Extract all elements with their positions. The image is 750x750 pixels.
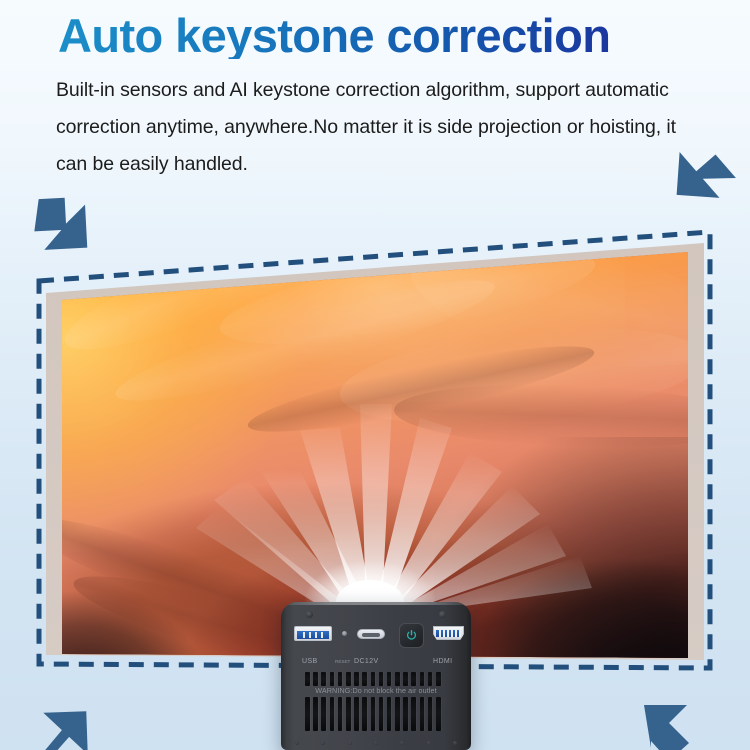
foot-dot <box>374 741 378 745</box>
hdmi-pin <box>451 630 453 637</box>
dc-power-label: DC12V <box>354 658 379 665</box>
foot-dot-row <box>295 741 457 745</box>
foot-dot <box>348 741 352 745</box>
usb-port[interactable] <box>294 626 332 641</box>
hdmi-pin <box>459 630 461 637</box>
hdmi-pin <box>443 630 445 637</box>
usb-pin <box>303 632 305 638</box>
usb-pin <box>315 632 317 638</box>
foot-dot <box>427 741 431 745</box>
usb-pin <box>309 632 311 638</box>
promo-banner: Auto keystone correction Built-in sensor… <box>0 0 750 750</box>
screw-icon <box>439 611 446 618</box>
foot-dot <box>321 741 325 745</box>
usb-port-label: USB <box>302 658 318 665</box>
hdmi-pin <box>447 630 449 637</box>
hdmi-pin <box>439 630 441 637</box>
hdmi-port-label: HDMI <box>433 658 453 665</box>
hdmi-pin <box>455 630 457 637</box>
reset-label: RESET <box>335 659 350 664</box>
air-outlet-warning: WARNING:Do not block the air outlet <box>281 686 471 695</box>
usb-pin <box>321 632 323 638</box>
foot-dot <box>295 741 299 745</box>
reset-pinhole[interactable] <box>342 631 347 636</box>
foot-dot <box>400 741 404 745</box>
projector-top-highlight <box>281 602 471 605</box>
mini-projector[interactable]: USB RESET DC12V HDMI WARNING:Do not bloc… <box>281 602 471 750</box>
usb-port-inner <box>297 631 329 639</box>
screw-icon <box>306 611 313 618</box>
foot-dot <box>453 741 457 745</box>
power-button[interactable] <box>399 623 424 648</box>
dc-power-port[interactable] <box>357 629 385 639</box>
air-vent-top <box>305 672 441 686</box>
port-row <box>281 622 471 656</box>
hdmi-port[interactable] <box>433 626 464 640</box>
power-icon <box>405 629 418 642</box>
air-vent-bottom <box>305 697 441 731</box>
